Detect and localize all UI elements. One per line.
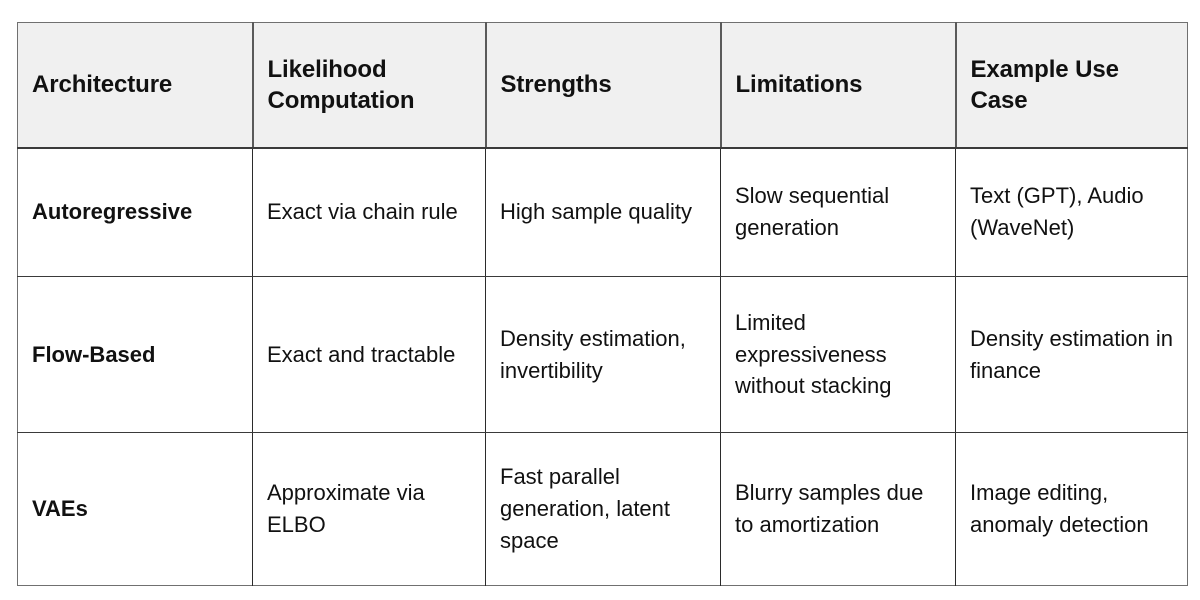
- column-header-limitations: Limitations: [721, 23, 956, 148]
- column-header-likelihood-computation: Likelihood Computation: [253, 23, 486, 148]
- table-row: Flow-Based Exact and tractable Density e…: [18, 277, 1188, 433]
- column-header-example-use-case: Example Use Case: [956, 23, 1188, 148]
- cell-limitations: Limited expressiveness without stacking: [721, 277, 956, 433]
- table-row: VAEs Approximate via ELBO Fast parallel …: [18, 433, 1188, 586]
- cell-strengths: High sample quality: [486, 148, 721, 277]
- table-row: Autoregressive Exact via chain rule High…: [18, 148, 1188, 277]
- cell-likelihood-computation: Exact and tractable: [253, 277, 486, 433]
- cell-likelihood-computation: Approximate via ELBO: [253, 433, 486, 586]
- cell-example-use-case: Density estimation in finance: [956, 277, 1188, 433]
- generative-model-comparison-table: Architecture Likelihood Computation Stre…: [17, 22, 1188, 586]
- table-body: Autoregressive Exact via chain rule High…: [18, 148, 1188, 586]
- column-header-architecture: Architecture: [18, 23, 253, 148]
- cell-limitations: Slow sequential generation: [721, 148, 956, 277]
- cell-architecture: Autoregressive: [18, 148, 253, 277]
- cell-limitations: Blurry samples due to amortization: [721, 433, 956, 586]
- cell-example-use-case: Text (GPT), Audio (WaveNet): [956, 148, 1188, 277]
- cell-strengths: Density estimation, invertibility: [486, 277, 721, 433]
- column-header-strengths: Strengths: [486, 23, 721, 148]
- cell-architecture: VAEs: [18, 433, 253, 586]
- cell-likelihood-computation: Exact via chain rule: [253, 148, 486, 277]
- table-header: Architecture Likelihood Computation Stre…: [18, 23, 1188, 148]
- cell-strengths: Fast parallel generation, latent space: [486, 433, 721, 586]
- cell-example-use-case: Image editing, anomaly detection: [956, 433, 1188, 586]
- cell-architecture: Flow-Based: [18, 277, 253, 433]
- comparison-table-container: Architecture Likelihood Computation Stre…: [17, 22, 1187, 585]
- table-header-row: Architecture Likelihood Computation Stre…: [18, 23, 1188, 148]
